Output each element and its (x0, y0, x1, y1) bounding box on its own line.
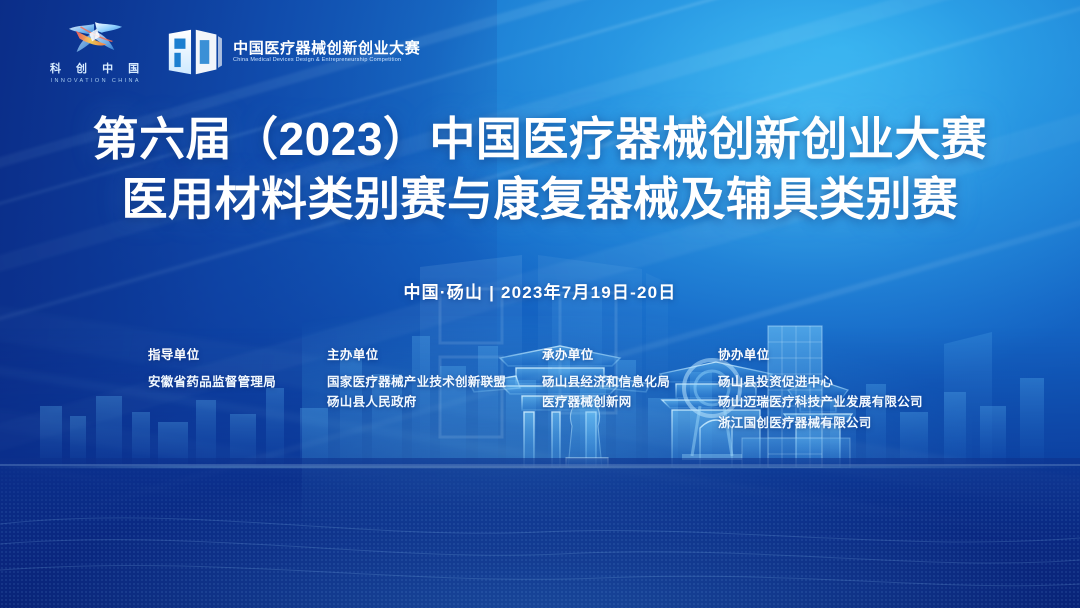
cmdc-logo-cn: 中国医疗器械创新创业大赛 (233, 41, 420, 56)
org-heading: 指导单位 (148, 344, 276, 363)
poster-title: 第六届（2023）中国医疗器械创新创业大赛 医用材料类别赛与康复器械及辅具类别赛 (0, 110, 1080, 230)
org-item: 安徽省药品监督管理局 (148, 372, 276, 392)
org-column-organizer: 承办单位 砀山县经济和信息化局 医疗器械创新网 (542, 344, 670, 413)
event-location-date: 中国·砀山 | 2023年7月19日-20日 (0, 278, 1080, 303)
cmdc-logo-en: China Medical Devices Design & Entrepren… (233, 58, 416, 64)
org-heading: 主办单位 (327, 344, 506, 363)
org-heading: 承办单位 (542, 344, 670, 363)
ground-wave-lines (0, 498, 1080, 608)
organizer-columns: 指导单位 安徽省药品监督管理局 主办单位 国家医疗器械产业技术创新联盟 砀山县人… (0, 344, 1080, 434)
org-item: 医疗器械创新网 (542, 392, 670, 412)
org-item: 国家医疗器械产业技术创新联盟 (327, 372, 506, 392)
org-item: 砀山县经济和信息化局 (542, 372, 670, 392)
ground-mesh (0, 458, 1080, 608)
org-heading: 协办单位 (718, 344, 923, 363)
org-column-guidance: 指导单位 安徽省药品监督管理局 (148, 344, 276, 392)
innovation-china-en: INNOVATION CHINA (48, 78, 141, 84)
org-item: 浙江国创医疗器械有限公司 (718, 413, 923, 433)
innovation-china-cn: 科 创 中 国 (44, 60, 145, 76)
org-column-host: 主办单位 国家医疗器械产业技术创新联盟 砀山县人民政府 (327, 344, 506, 413)
title-line-2: 医用材料类别赛与康复器械及辅具类别赛 (0, 170, 1080, 230)
org-column-co-organizer: 协办单位 砀山县投资促进中心 砀山迈瑞医疗科技产业发展有限公司 浙江国创医疗器械… (718, 344, 923, 433)
org-item: 砀山县投资促进中心 (718, 372, 923, 392)
cmdc-logo[interactable]: 中国医疗器械创新创业大赛 China Medical Devices Desig… (167, 29, 420, 75)
org-item: 砀山县人民政府 (327, 392, 506, 412)
innovation-china-logo[interactable]: 科 创 中 国 INNOVATION CHINA (44, 20, 145, 84)
title-line-1: 第六届（2023）中国医疗器械创新创业大赛 (0, 110, 1080, 170)
eagle-bird-icon (66, 20, 124, 58)
open-door-icon (167, 29, 223, 75)
header-logo-group: 科 创 中 国 INNOVATION CHINA 中国医疗器械创新创业大赛 C (44, 20, 420, 84)
poster-canvas: 科 创 中 国 INNOVATION CHINA 中国医疗器械创新创业大赛 C (0, 0, 1080, 608)
org-item: 砀山迈瑞医疗科技产业发展有限公司 (718, 392, 923, 412)
